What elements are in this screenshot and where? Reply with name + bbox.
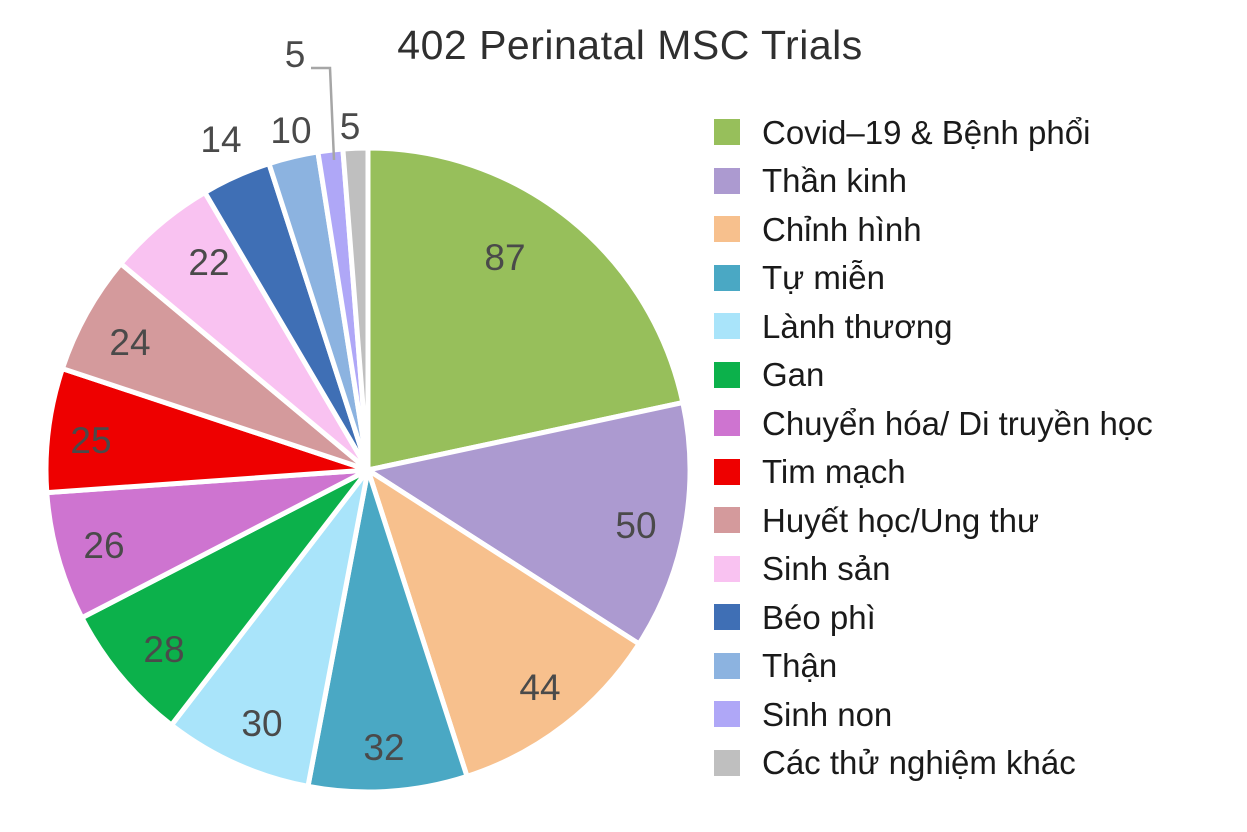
legend-color-swatch (714, 459, 740, 485)
legend-item[interactable]: Sinh sản (714, 545, 1247, 594)
legend-item-label: Béo phì (762, 601, 876, 634)
legend-item-label: Huyết học/Ung thư (762, 504, 1039, 537)
legend: Covid–19 & Bệnh phổiThần kinhChỉnh hìnhT… (714, 108, 1247, 787)
legend-color-swatch (714, 216, 740, 242)
legend-color-swatch (714, 653, 740, 679)
legend-color-swatch (714, 750, 740, 776)
legend-item[interactable]: Huyết học/Ung thư (714, 496, 1247, 545)
legend-color-swatch (714, 362, 740, 388)
legend-color-swatch (714, 410, 740, 436)
legend-item-label: Tự miễn (762, 261, 885, 294)
legend-item-label: Chỉnh hình (762, 213, 922, 246)
legend-item[interactable]: Tim mạch (714, 448, 1247, 497)
legend-item[interactable]: Chuyển hóa/ Di truyền học (714, 399, 1247, 448)
pie-leader-lines-group (311, 68, 334, 160)
pie-chart-figure: 402 Perinatal MSC Trials 875044323028262… (0, 0, 1247, 832)
pie-slices-group (46, 148, 690, 792)
label-leader-line (311, 68, 334, 160)
legend-item-label: Lành thương (762, 310, 953, 343)
legend-color-swatch (714, 313, 740, 339)
legend-item[interactable]: Thận (714, 642, 1247, 691)
legend-item-label: Sinh sản (762, 552, 890, 585)
pie-plot-area: 87504432302826252422141055 (0, 0, 700, 832)
legend-item[interactable]: Gan (714, 351, 1247, 400)
legend-color-swatch (714, 507, 740, 533)
legend-item[interactable]: Chỉnh hình (714, 205, 1247, 254)
legend-item-label: Tim mạch (762, 455, 906, 488)
legend-color-swatch (714, 119, 740, 145)
legend-color-swatch (714, 556, 740, 582)
legend-item[interactable]: Lành thương (714, 302, 1247, 351)
legend-item[interactable]: Các thử nghiệm khác (714, 739, 1247, 788)
legend-color-swatch (714, 265, 740, 291)
legend-item-label: Các thử nghiệm khác (762, 746, 1076, 779)
legend-item-label: Chuyển hóa/ Di truyền học (762, 407, 1153, 440)
legend-item-label: Sinh non (762, 698, 892, 731)
legend-item-label: Gan (762, 358, 824, 391)
legend-item[interactable]: Covid–19 & Bệnh phổi (714, 108, 1247, 157)
legend-color-swatch (714, 701, 740, 727)
legend-item[interactable]: Béo phì (714, 593, 1247, 642)
legend-item-label: Covid–19 & Bệnh phổi (762, 116, 1090, 149)
legend-item-label: Thần kinh (762, 164, 907, 197)
pie-svg (0, 0, 700, 832)
legend-item-label: Thận (762, 649, 837, 682)
legend-color-swatch (714, 604, 740, 630)
legend-item[interactable]: Sinh non (714, 690, 1247, 739)
legend-color-swatch (714, 168, 740, 194)
legend-item[interactable]: Thần kinh (714, 157, 1247, 206)
legend-item[interactable]: Tự miễn (714, 254, 1247, 303)
